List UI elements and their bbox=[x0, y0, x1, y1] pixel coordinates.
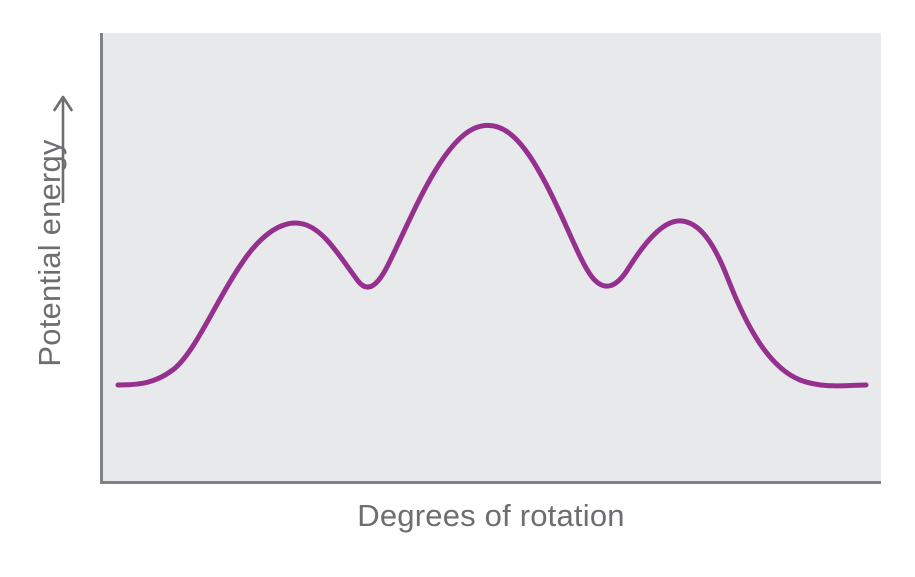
potential-energy-rotation-chart: Potential energy Degrees of rotation bbox=[0, 0, 915, 577]
x-axis-label: Degrees of rotation bbox=[100, 498, 882, 534]
plot-area bbox=[100, 33, 881, 484]
potential-energy-curve-svg bbox=[100, 33, 881, 484]
up-arrow-icon bbox=[52, 88, 74, 203]
potential-energy-curve bbox=[118, 125, 866, 386]
y-axis-label-group: Potential energy bbox=[0, 33, 100, 483]
